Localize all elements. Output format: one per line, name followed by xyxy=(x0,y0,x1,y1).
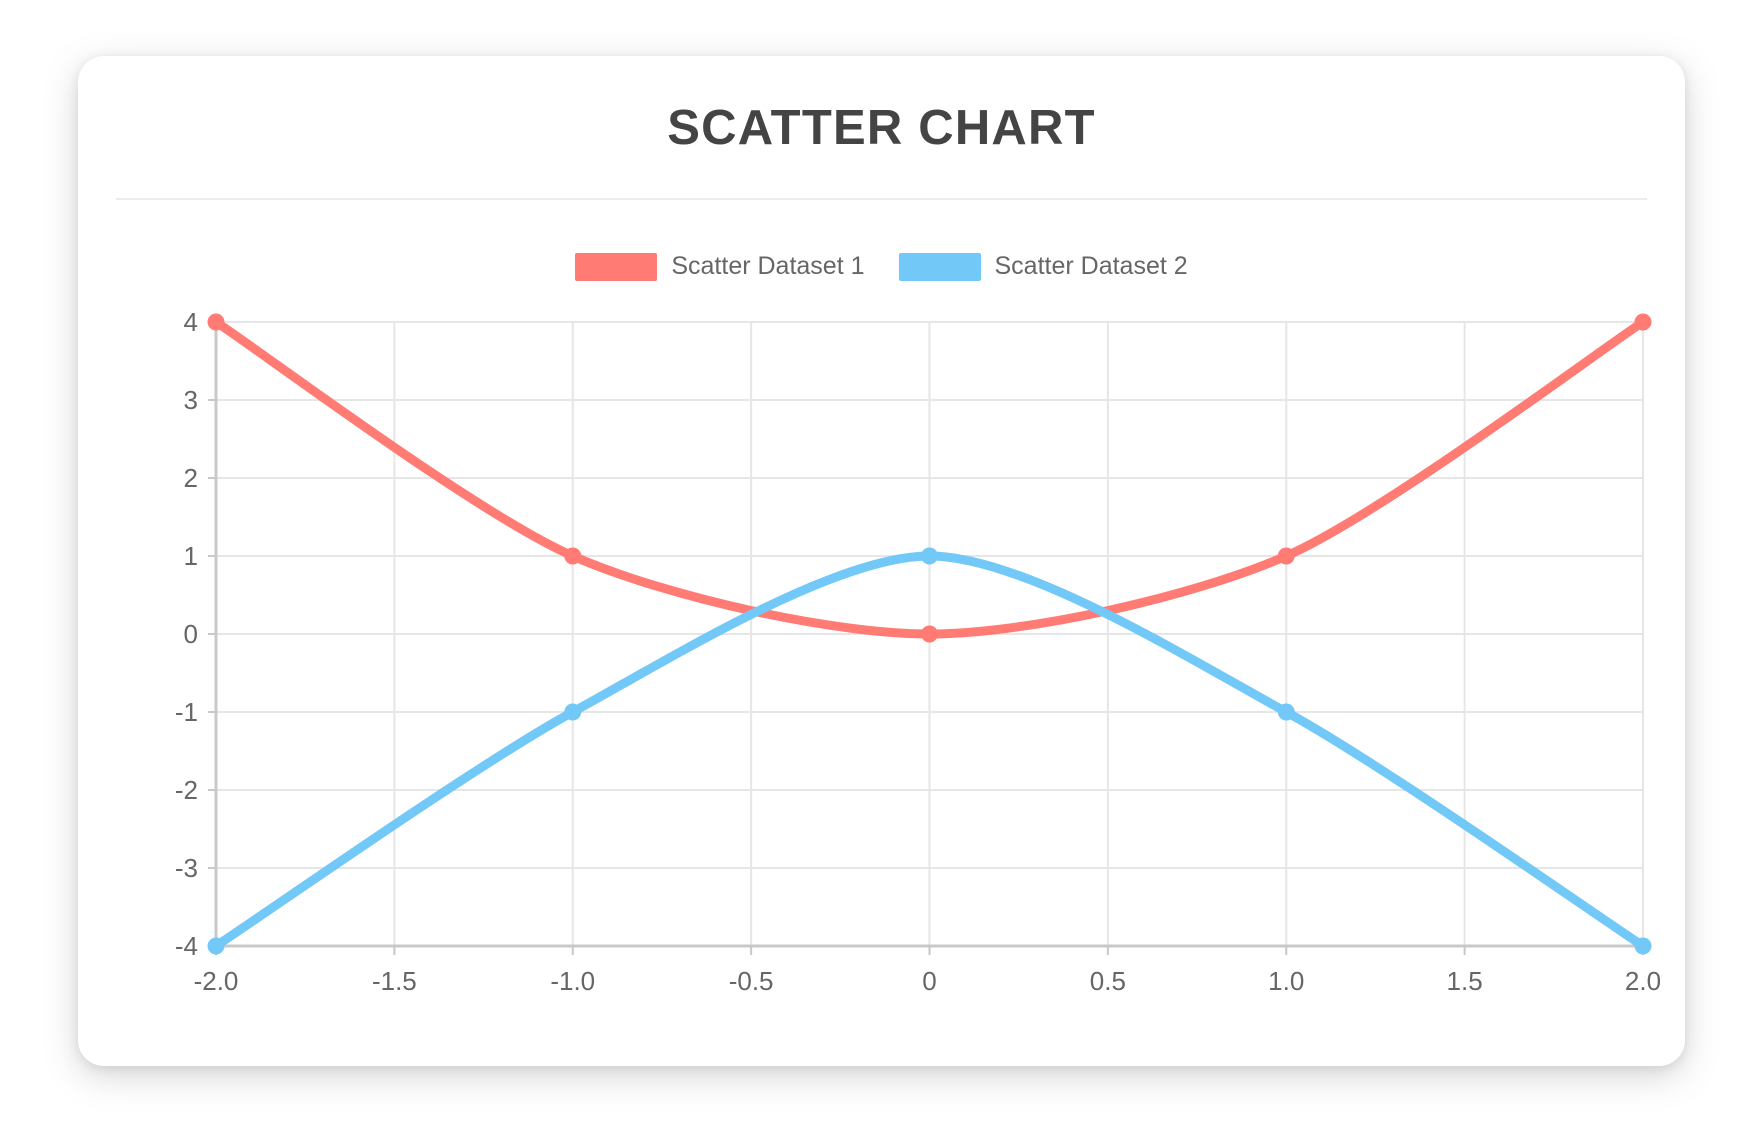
x-tick-label: -2.0 xyxy=(194,966,239,996)
title-divider xyxy=(116,198,1647,200)
legend-item-scatter-dataset-2[interactable]: Scatter Dataset 2 xyxy=(899,252,1188,281)
y-tick-label: 1 xyxy=(184,541,198,571)
data-point[interactable] xyxy=(921,626,938,643)
page-title: SCATTER CHART xyxy=(78,100,1685,156)
y-tick-label: 4 xyxy=(184,307,198,337)
data-point[interactable] xyxy=(921,548,938,565)
legend-swatch-series-2 xyxy=(899,253,981,281)
x-tick-label: -1.5 xyxy=(372,966,417,996)
data-point[interactable] xyxy=(1635,314,1652,331)
data-point[interactable] xyxy=(564,548,581,565)
legend-swatch-series-1 xyxy=(575,253,657,281)
y-tick-label: 2 xyxy=(184,463,198,493)
data-point[interactable] xyxy=(1278,548,1295,565)
legend-item-scatter-dataset-1[interactable]: Scatter Dataset 1 xyxy=(575,252,864,281)
y-tick-label: -3 xyxy=(175,853,198,883)
chart-card: SCATTER CHART Scatter Dataset 1 Scatter … xyxy=(78,56,1685,1066)
y-tick-label: 3 xyxy=(184,385,198,415)
data-point[interactable] xyxy=(1278,704,1295,721)
x-tick-label: -0.5 xyxy=(729,966,774,996)
x-tick-label: 1.5 xyxy=(1447,966,1483,996)
x-tick-label: 1.0 xyxy=(1268,966,1304,996)
x-tick-label: 0 xyxy=(922,966,936,996)
scatter-chart-svg[interactable]: 43210-1-2-3-4-2.0-1.5-1.0-0.500.51.01.52… xyxy=(78,288,1685,1028)
legend-label-series-1: Scatter Dataset 1 xyxy=(671,252,864,281)
data-point[interactable] xyxy=(208,938,225,955)
data-point[interactable] xyxy=(1635,938,1652,955)
data-point[interactable] xyxy=(208,314,225,331)
plot-area: 43210-1-2-3-4-2.0-1.5-1.0-0.500.51.01.52… xyxy=(78,288,1685,1028)
y-tick-label: 0 xyxy=(184,619,198,649)
x-tick-label: 2.0 xyxy=(1625,966,1661,996)
y-tick-label: -4 xyxy=(175,931,198,961)
data-point[interactable] xyxy=(564,704,581,721)
legend-label-series-2: Scatter Dataset 2 xyxy=(995,252,1188,281)
y-tick-label: -1 xyxy=(175,697,198,727)
screenshot-root: SCATTER CHART Scatter Dataset 1 Scatter … xyxy=(0,0,1763,1144)
y-tick-label: -2 xyxy=(175,775,198,805)
chart-legend: Scatter Dataset 1 Scatter Dataset 2 xyxy=(78,252,1685,281)
x-tick-label: 0.5 xyxy=(1090,966,1126,996)
x-tick-label: -1.0 xyxy=(550,966,595,996)
